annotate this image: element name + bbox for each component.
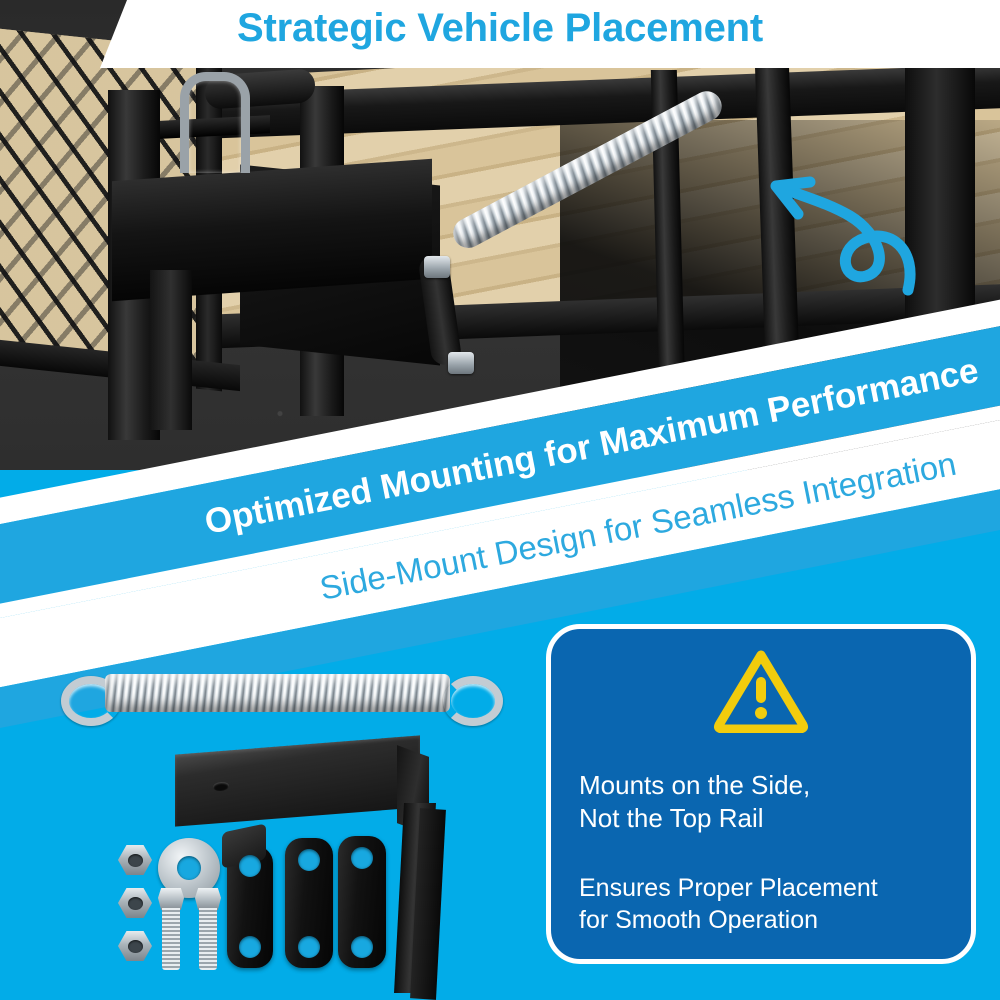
link-plate-hole [298, 849, 320, 871]
warning-triangle-icon [713, 647, 809, 733]
u-bolt [180, 72, 250, 173]
hex-bolt-shank [162, 908, 180, 970]
spring-coil-body [105, 674, 450, 712]
extension-spring [55, 670, 495, 716]
page-title: Strategic Vehicle Placement [0, 6, 1000, 51]
link-plate-hole [351, 936, 373, 958]
hex-nut-hole [128, 854, 143, 867]
info-card: Mounts on the Side, Not the Top Rail Ens… [546, 624, 976, 964]
link-plate-hole [239, 855, 261, 877]
mounted-bolt-upper [424, 256, 450, 278]
hex-bolt-head [195, 888, 221, 910]
hex-bolt-head [158, 888, 184, 910]
link-plate-hole [298, 936, 320, 958]
hex-bolt-shank [199, 908, 217, 970]
spring-eye-right [443, 676, 503, 726]
link-plate-hole [239, 936, 261, 958]
l-bracket-top-face [175, 735, 420, 826]
hex-nut-hole [128, 940, 143, 953]
card-text-secondary: Ensures Proper Placement for Smooth Oper… [579, 872, 949, 936]
mounted-bolt-lower [448, 352, 474, 374]
hex-nut-hole [128, 897, 143, 910]
gate-bracket-leg [150, 270, 192, 430]
title-banner: Strategic Vehicle Placement [0, 0, 1000, 68]
warning-icon-container [551, 647, 971, 733]
product-infographic: Strategic Vehicle Placement Optimized Mo… [0, 0, 1000, 1000]
card-text-primary: Mounts on the Side, Not the Top Rail [579, 769, 949, 836]
link-plate-hole [351, 847, 373, 869]
curved-arrow-icon [740, 130, 940, 310]
flat-washer-hole [177, 856, 201, 880]
